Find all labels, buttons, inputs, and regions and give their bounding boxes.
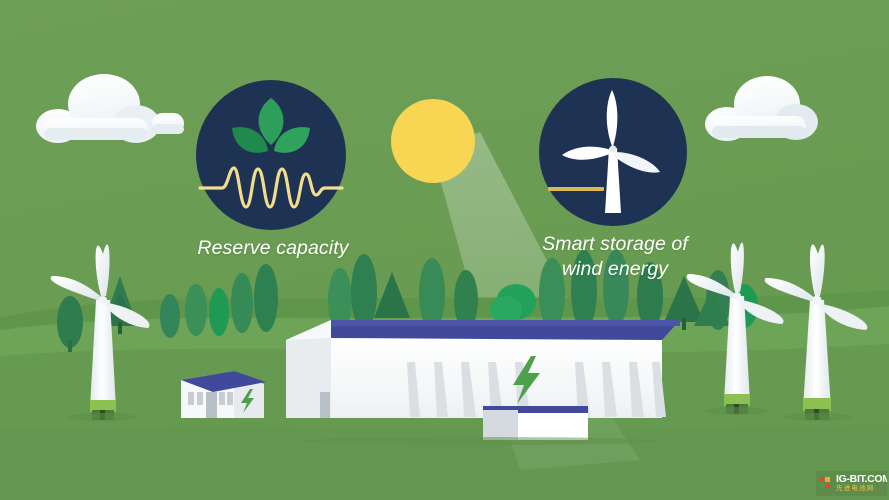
reserve-capacity-badge (196, 80, 346, 230)
watermark-subtitle: 先进电池网 (836, 485, 887, 493)
field-foreground (0, 424, 889, 500)
watermark-domain: IG-BIT.COM (836, 474, 887, 485)
cloud-small-left (152, 113, 184, 134)
gold-bar-icon (548, 187, 604, 191)
illustration-canvas: Reserve capacity Smart storage of wind e… (0, 0, 889, 500)
watermark-logo-icon (818, 476, 834, 492)
scene-graphic (0, 0, 889, 500)
small-house (181, 371, 266, 418)
sun-icon (391, 99, 475, 183)
watermark-text: IG-BIT.COM 先进电池网 (836, 474, 887, 493)
house-door (206, 392, 217, 418)
site-watermark: IG-BIT.COM 先进电池网 (816, 471, 887, 496)
smart-storage-badge (539, 78, 687, 226)
